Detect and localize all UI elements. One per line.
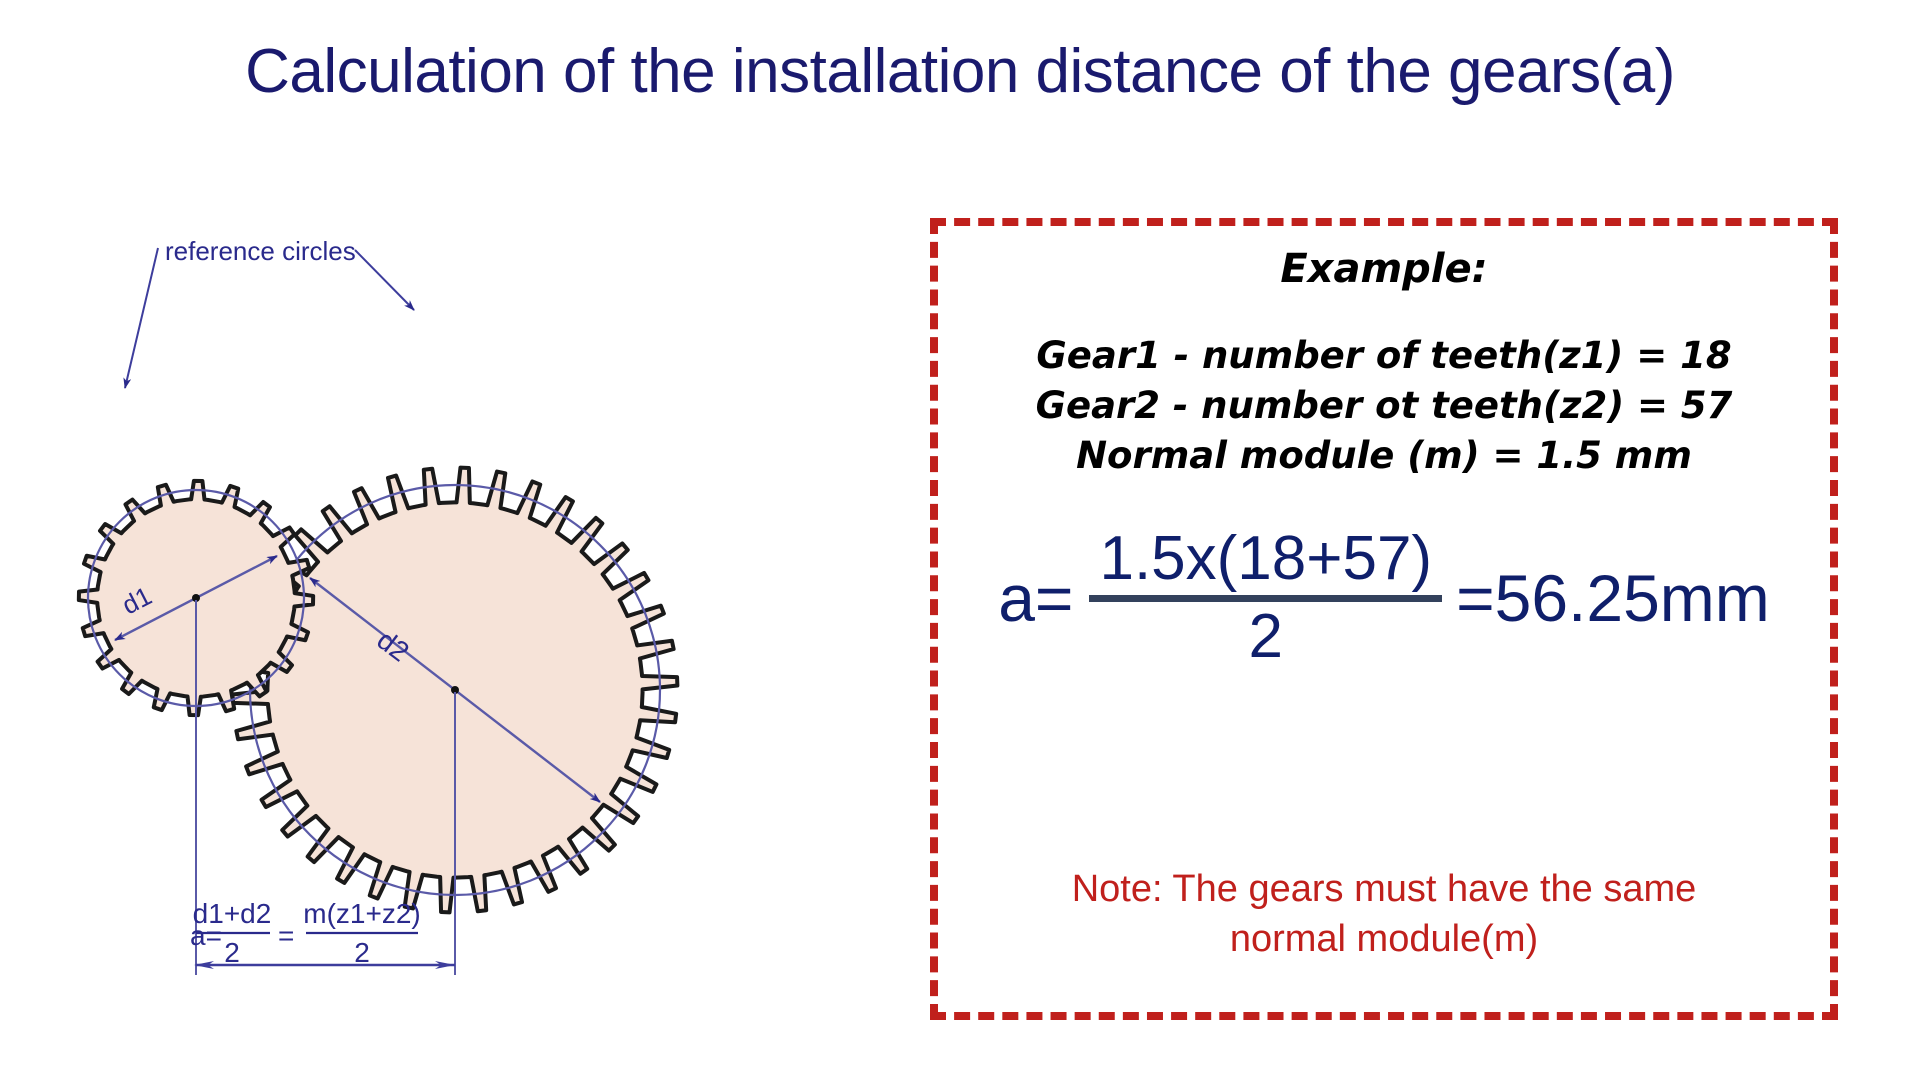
center-distance-formula: a= d1+d2 2 = m(z1+z2) 2 bbox=[190, 898, 421, 968]
formula-numerator: 1.5x(18+57) bbox=[1089, 526, 1442, 591]
formula-frac2-numerator: m(z1+z2) bbox=[303, 898, 420, 929]
formula-fraction-bar bbox=[1089, 595, 1442, 602]
formula-lhs: a= bbox=[998, 565, 1073, 631]
slide-canvas: Calculation of the installation distance… bbox=[0, 0, 1920, 1080]
note-line-1: Note: The gears must have the same bbox=[938, 864, 1830, 914]
gear-diagram: d1 d2 reference circles a= d1+d2 2 = m(z… bbox=[0, 200, 900, 1030]
example-callout-box: Example: Gear1 - number of teeth(z1) = 1… bbox=[930, 218, 1838, 1020]
page-title: Calculation of the installation distance… bbox=[0, 36, 1920, 107]
given-line-gear2: Gear2 - number ot teeth(z2) = 57 bbox=[938, 381, 1830, 431]
note-text: Note: The gears must have the same norma… bbox=[938, 864, 1830, 964]
reference-leader-left bbox=[125, 248, 158, 388]
formula-result: =56.25mm bbox=[1456, 565, 1770, 631]
formula-equals: = bbox=[278, 920, 294, 951]
example-formula: a= 1.5x(18+57) 2 =56.25mm bbox=[938, 526, 1830, 669]
formula-frac1-denominator: 2 bbox=[224, 937, 240, 968]
given-line-gear1: Gear1 - number of teeth(z1) = 18 bbox=[938, 331, 1830, 381]
example-heading: Example: bbox=[938, 246, 1830, 292]
formula-frac1-numerator: d1+d2 bbox=[193, 898, 272, 929]
given-values-list: Gear1 - number of teeth(z1) = 18 Gear2 -… bbox=[938, 331, 1830, 481]
formula-denominator: 2 bbox=[1249, 604, 1283, 669]
reference-leader-right bbox=[355, 250, 414, 310]
note-line-2: normal module(m) bbox=[938, 914, 1830, 964]
formula-fraction: 1.5x(18+57) 2 bbox=[1089, 526, 1442, 669]
reference-circles-label: reference circles bbox=[165, 236, 356, 266]
given-line-module: Normal module (m) = 1.5 mm bbox=[938, 431, 1830, 481]
formula-frac2-denominator: 2 bbox=[354, 937, 370, 968]
